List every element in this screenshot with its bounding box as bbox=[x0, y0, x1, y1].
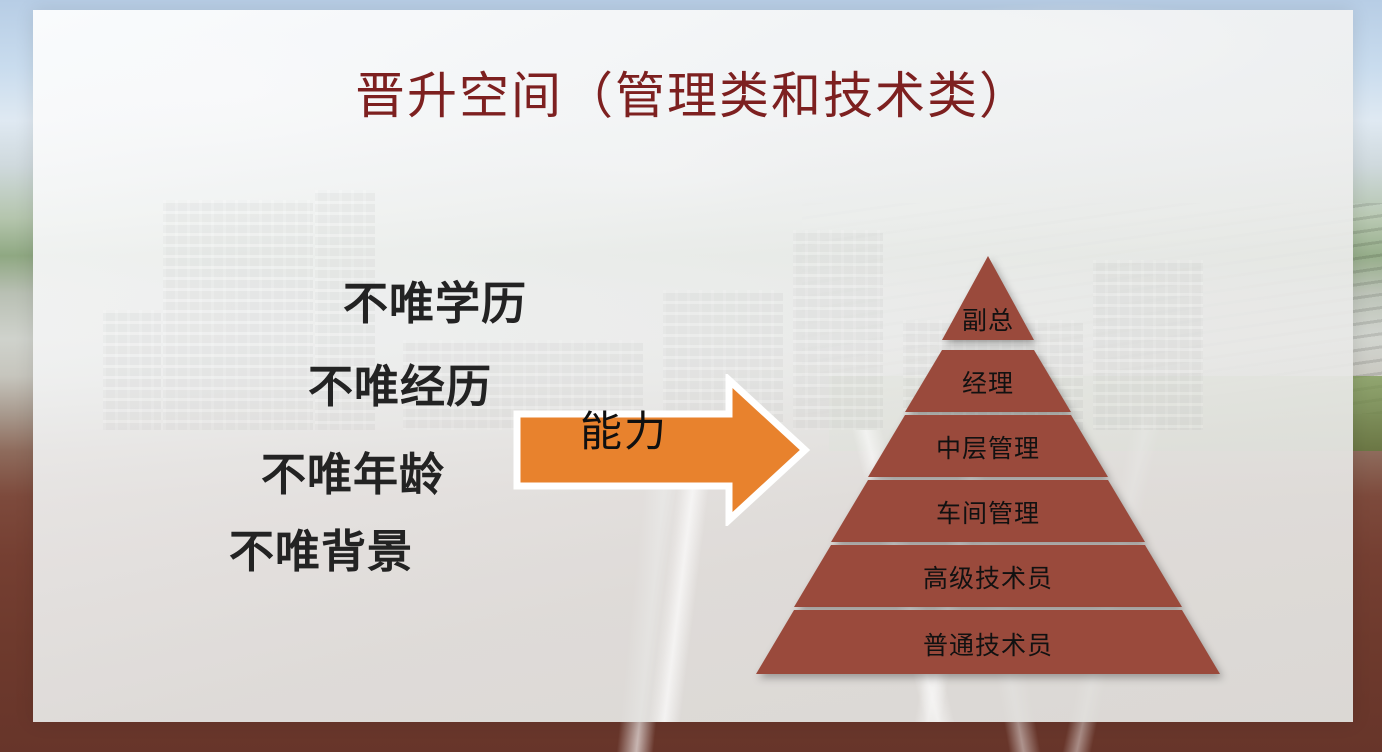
pyramid-level bbox=[693, 543, 1283, 609]
pyramid-level bbox=[693, 348, 1283, 414]
left-text-line: 不唯学历 bbox=[343, 282, 527, 327]
content-panel: 晋升空间（管理类和技术类） 不唯学历 不唯经历 不唯年龄 不唯背景 能力 副总 bbox=[33, 10, 1353, 722]
left-text-line: 不唯经历 bbox=[308, 365, 492, 410]
left-text-line: 不唯背景 bbox=[229, 530, 413, 575]
pyramid-level bbox=[693, 608, 1283, 676]
pyramid-level bbox=[693, 254, 1283, 342]
left-text-block: 不唯学历 不唯经历 不唯年龄 不唯背景 bbox=[33, 268, 553, 598]
page-title: 晋升空间（管理类和技术类） bbox=[33, 68, 1353, 126]
slide-canvas: 晋升空间（管理类和技术类） 不唯学历 不唯经历 不唯年龄 不唯背景 能力 副总 bbox=[0, 0, 1382, 752]
pyramid-level bbox=[693, 478, 1283, 544]
pyramid-level bbox=[693, 413, 1283, 479]
left-text-line: 不唯年龄 bbox=[261, 453, 445, 498]
career-pyramid: 副总 经理 中层管理 车间管理 bbox=[693, 254, 1283, 684]
